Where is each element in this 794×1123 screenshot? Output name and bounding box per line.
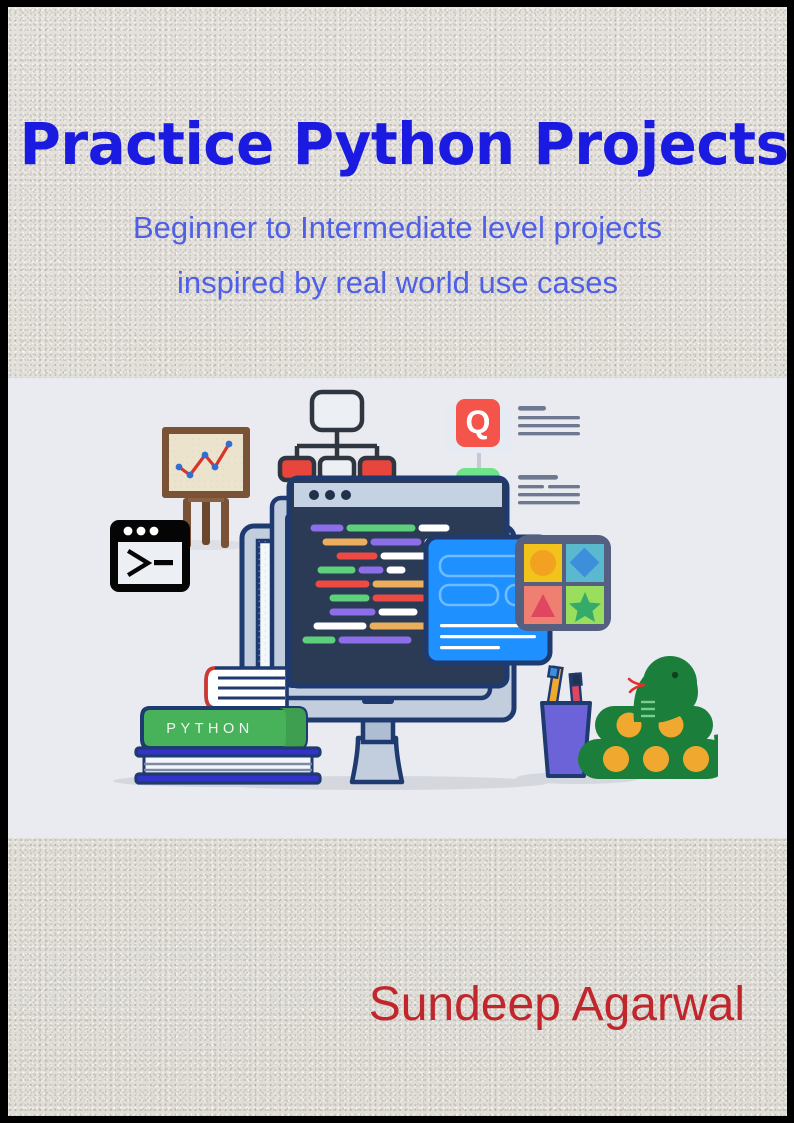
page-title: Practice Python Projects [20,110,776,178]
python-snake-icon [578,656,718,779]
svg-text:Q: Q [465,404,490,440]
python-workspace-illustration: Q A [78,378,718,838]
flowchart-diagram-icon [280,392,394,480]
book-cover: Practice Python Projects Beginner to Int… [0,0,794,1123]
subtitle-line-1: Beginner to Intermediate level projects [8,210,787,246]
subtitle-line-2: inspired by real world use cases [8,265,787,301]
terminal-window-icon [110,520,190,592]
title-block: Practice Python Projects Beginner to Int… [8,7,787,378]
author-name: Sundeep Agarwal [8,977,745,1032]
cover-paper-surface: Practice Python Projects Beginner to Int… [8,7,787,1116]
illustration-band: Q A [8,378,787,838]
book-spine-label: PYTHON [166,721,253,737]
shape-grid-card-icon [515,535,611,631]
